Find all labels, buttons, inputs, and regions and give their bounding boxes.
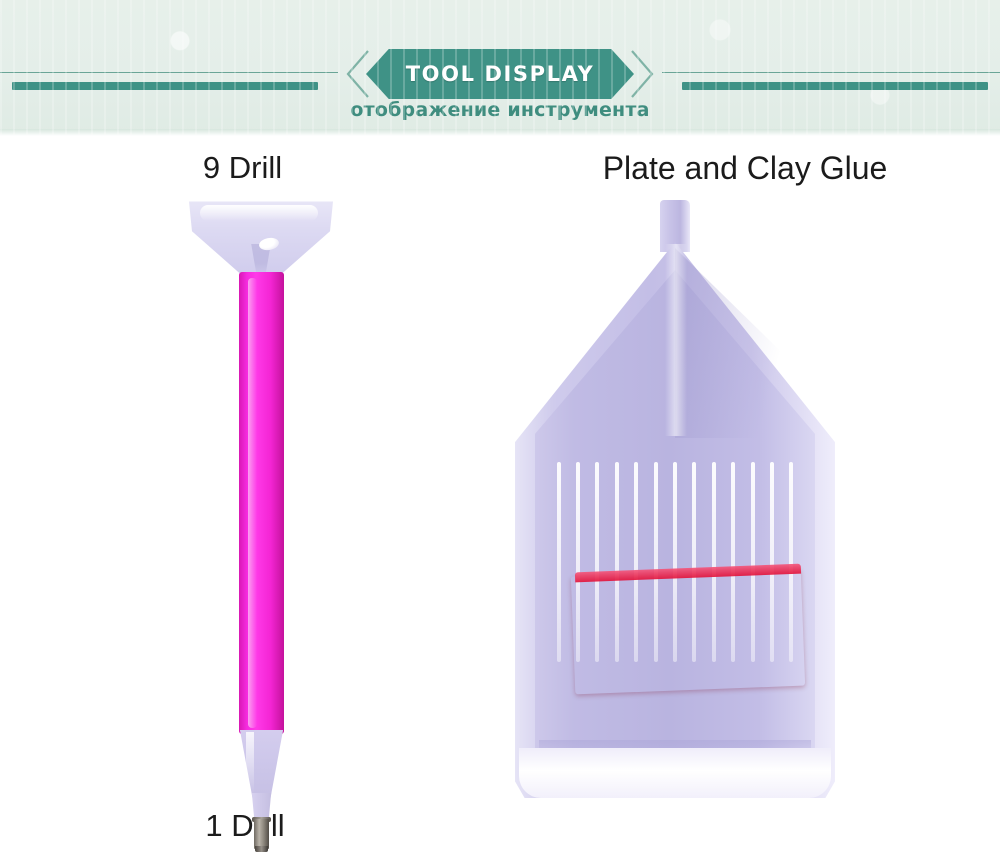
pen-taper-highlight [246,732,254,794]
decorative-rule-bold-right [682,82,988,90]
content-area: 9 Drill Plate and Clay Glue 1 Drill [0,136,1000,853]
banner-title: TOOL DISPLAY [406,62,595,86]
clay-glue-block [571,568,805,695]
tray-bottom-lip [519,748,831,798]
header-bottom-edge [0,129,1000,136]
drill-pen-image [186,200,336,800]
banner-subtitle: отображение инструмента [0,99,1000,121]
label-9-drill: 9 Drill [0,150,485,186]
label-plate-and-clay-glue: Plate and Clay Glue [490,150,1000,187]
pen-barrel [239,272,284,734]
tray-roof-shading [675,248,815,438]
decorative-rule-bold-left [12,82,318,90]
tray-groove [557,462,561,662]
pen-metal-tip [254,819,269,849]
header-banner: TOOL DISPLAY отображение инструмента [0,0,1000,136]
label-1-drill: 1 Drill [110,808,380,844]
pen-head-highlight [200,205,318,221]
pen-tip-end [255,846,268,852]
title-ribbon: TOOL DISPLAY [366,49,634,99]
decorative-rule-thin-left [0,72,338,73]
pen-barrel-highlight [248,278,257,728]
decorative-rule-thin-right [662,72,1000,73]
tray-center-ridge [665,244,687,436]
plate-tray-image [505,200,855,800]
